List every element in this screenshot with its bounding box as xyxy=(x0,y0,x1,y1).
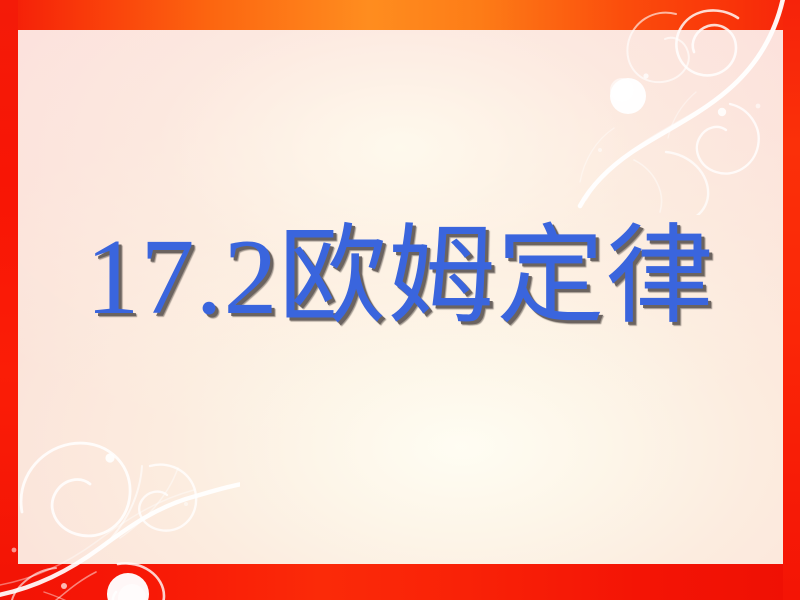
page-title: 17.2欧姆定律 xyxy=(85,218,714,339)
presentation-slide: 17.2欧姆定律 xyxy=(0,0,800,600)
title-block: 17.2欧姆定律 xyxy=(0,218,800,339)
slide-border-top xyxy=(0,0,800,30)
slide-border-bottom xyxy=(0,564,800,600)
